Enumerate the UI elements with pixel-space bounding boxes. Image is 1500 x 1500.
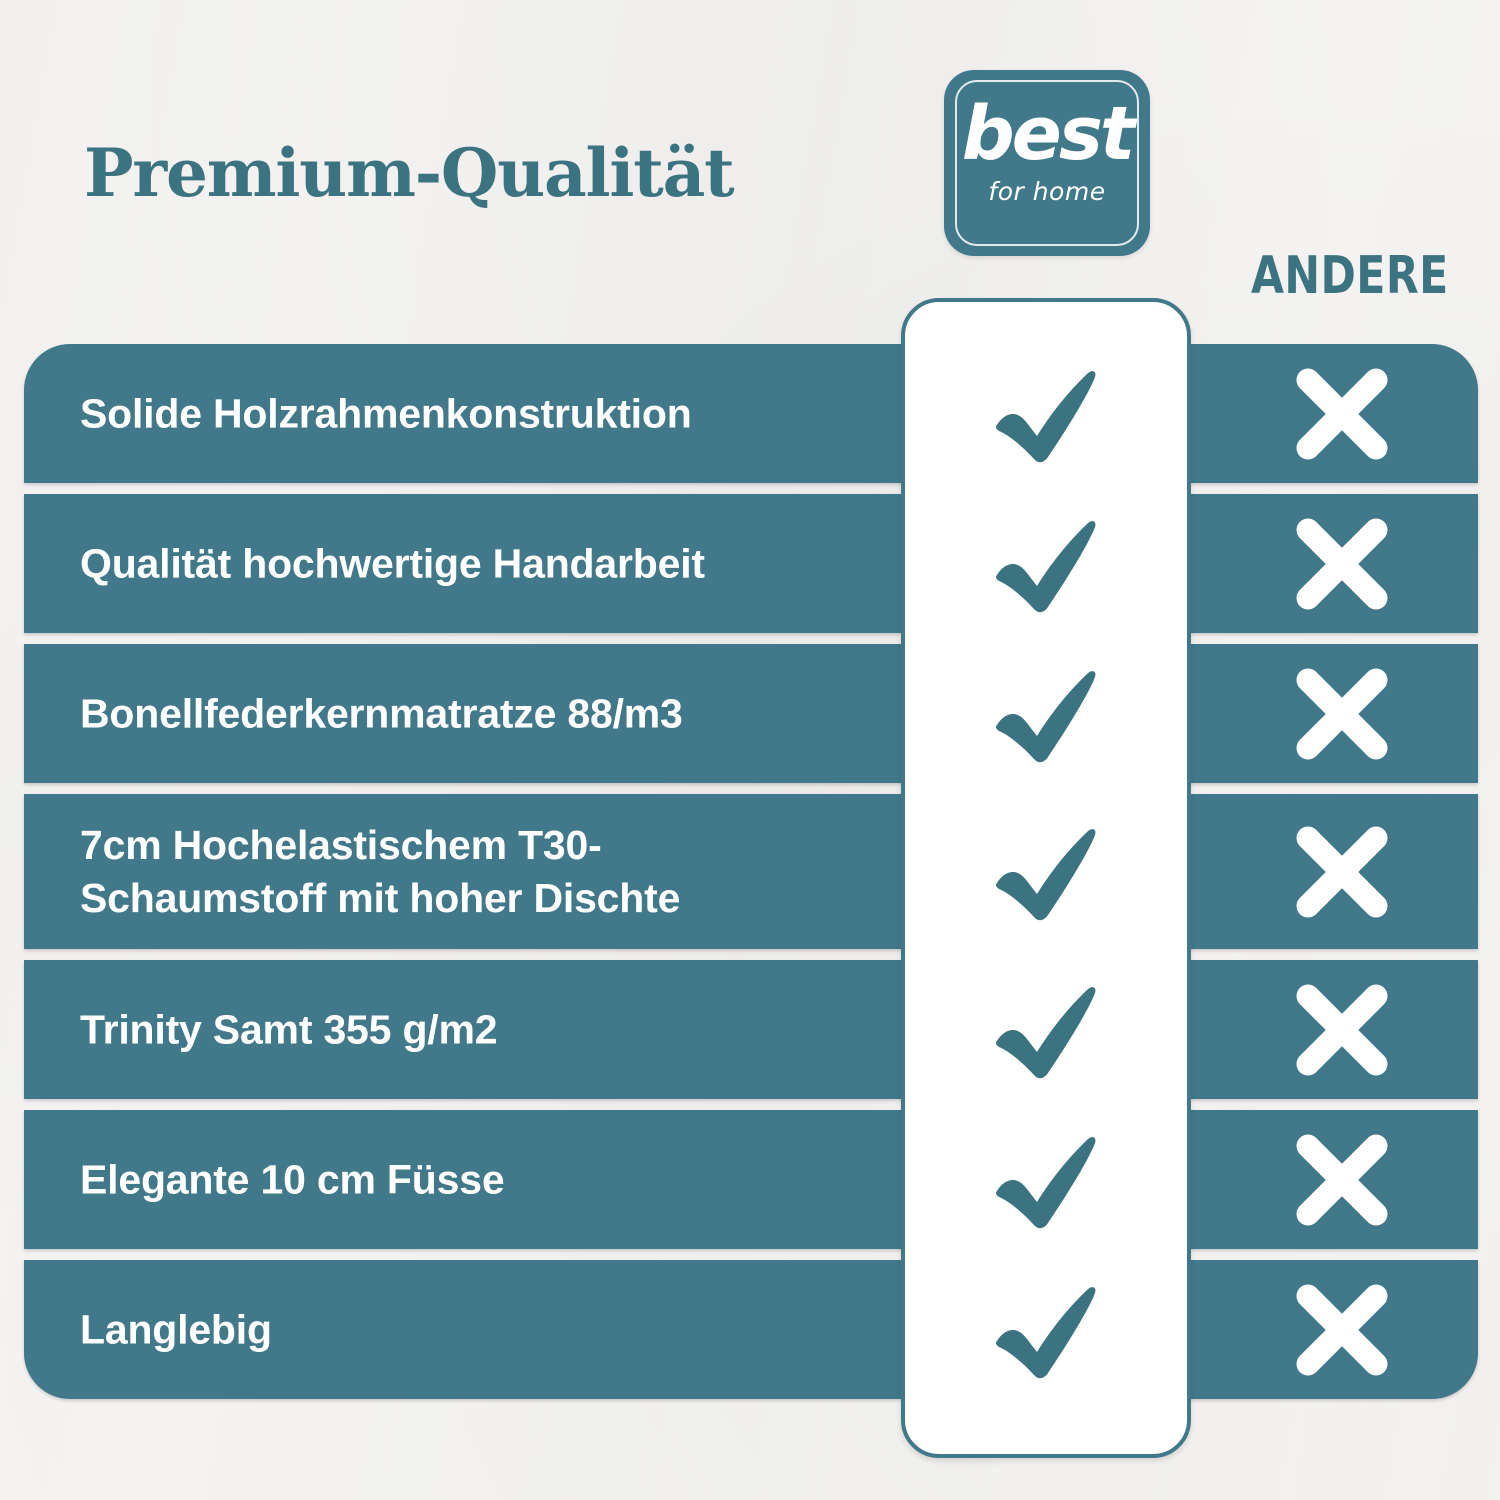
feature-label: Elegante 10 cm Füsse [80,1153,504,1206]
feature-row: Elegante 10 cm Füsse [24,1110,1478,1249]
feature-row: Solide Holzrahmenkonstruktion [24,344,1478,483]
feature-row: Bonellfederkernmatratze 88/m3 [24,644,1478,783]
feature-label: Bonellfederkernmatratze 88/m3 [80,687,683,740]
logo-word-best: best [944,97,1150,171]
feature-row: Langlebig [24,1260,1478,1399]
others-column-heading: ANDERE [1251,246,1449,306]
feature-row: Trinity Samt 355 g/m2 [24,960,1478,1099]
comparison-table: Solide HolzrahmenkonstruktionQualität ho… [24,344,1478,1399]
feature-label: Trinity Samt 355 g/m2 [80,1003,497,1056]
logo-word-for-home: for home [944,178,1150,206]
feature-row: 7cm Hochelastischem T30- Schaumstoff mit… [24,794,1478,949]
feature-label: Qualität hochwertige Handarbeit [80,537,705,590]
feature-label: 7cm Hochelastischem T30- Schaumstoff mit… [80,819,680,925]
best-for-home-logo: best for home [944,70,1150,256]
page-title: Premium-Qualität [84,134,733,212]
feature-label: Solide Holzrahmenkonstruktion [80,387,692,440]
best-for-home-column-highlight [901,298,1191,1458]
feature-row: Qualität hochwertige Handarbeit [24,494,1478,633]
feature-label: Langlebig [80,1303,272,1356]
